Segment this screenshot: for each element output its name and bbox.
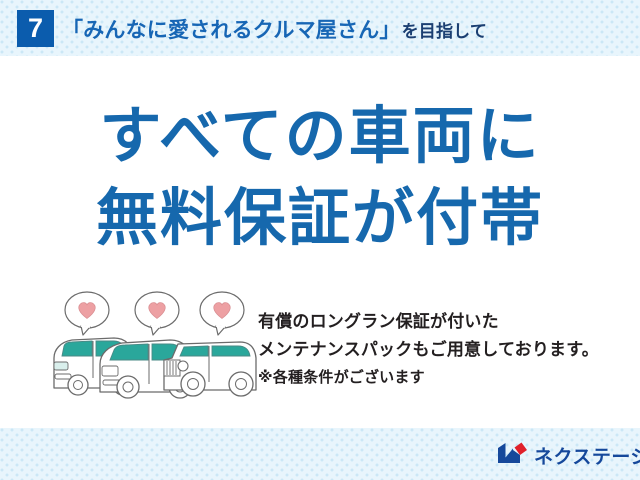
body-copy-line-1: 有償のロングラン保証が付いた	[258, 308, 628, 336]
body-copy-line-2: メンテナンスパックもご用意しております。	[258, 336, 628, 364]
header-title: 「みんなに愛されるクルマ屋さん」 を目指して	[62, 14, 487, 44]
heart-speech-bubble-1	[65, 292, 109, 335]
nexstage-n-mark-icon	[497, 441, 528, 470]
headline-line-2: 無料保証が付帯	[0, 178, 640, 260]
headline-line-1: すべての車両に	[0, 96, 640, 178]
heart-speech-bubble-2	[135, 292, 179, 335]
body-copy-note: ※各種条件がございます	[258, 364, 628, 392]
headline: すべての車両に 無料保証が付帯	[0, 96, 640, 260]
brand-logo: ネクステージ	[497, 441, 640, 469]
brand-logo-text: ネクステージ	[528, 442, 640, 469]
car-suv-jeep	[164, 342, 256, 396]
body-copy: 有償のロングラン保証が付いた メンテナンスパックもご用意しております。 ※各種条…	[258, 308, 628, 392]
promo-slide: 7 「みんなに愛されるクルマ屋さん」 を目指して すべての車両に 無料保証が付帯	[0, 0, 640, 480]
cars-illustration	[52, 288, 262, 403]
header-number-badge: 7	[17, 10, 54, 47]
header-title-main: 「みんなに愛されるクルマ屋さん」	[62, 14, 401, 44]
header-title-tail: を目指して	[401, 17, 488, 42]
heart-speech-bubble-3	[200, 292, 244, 335]
